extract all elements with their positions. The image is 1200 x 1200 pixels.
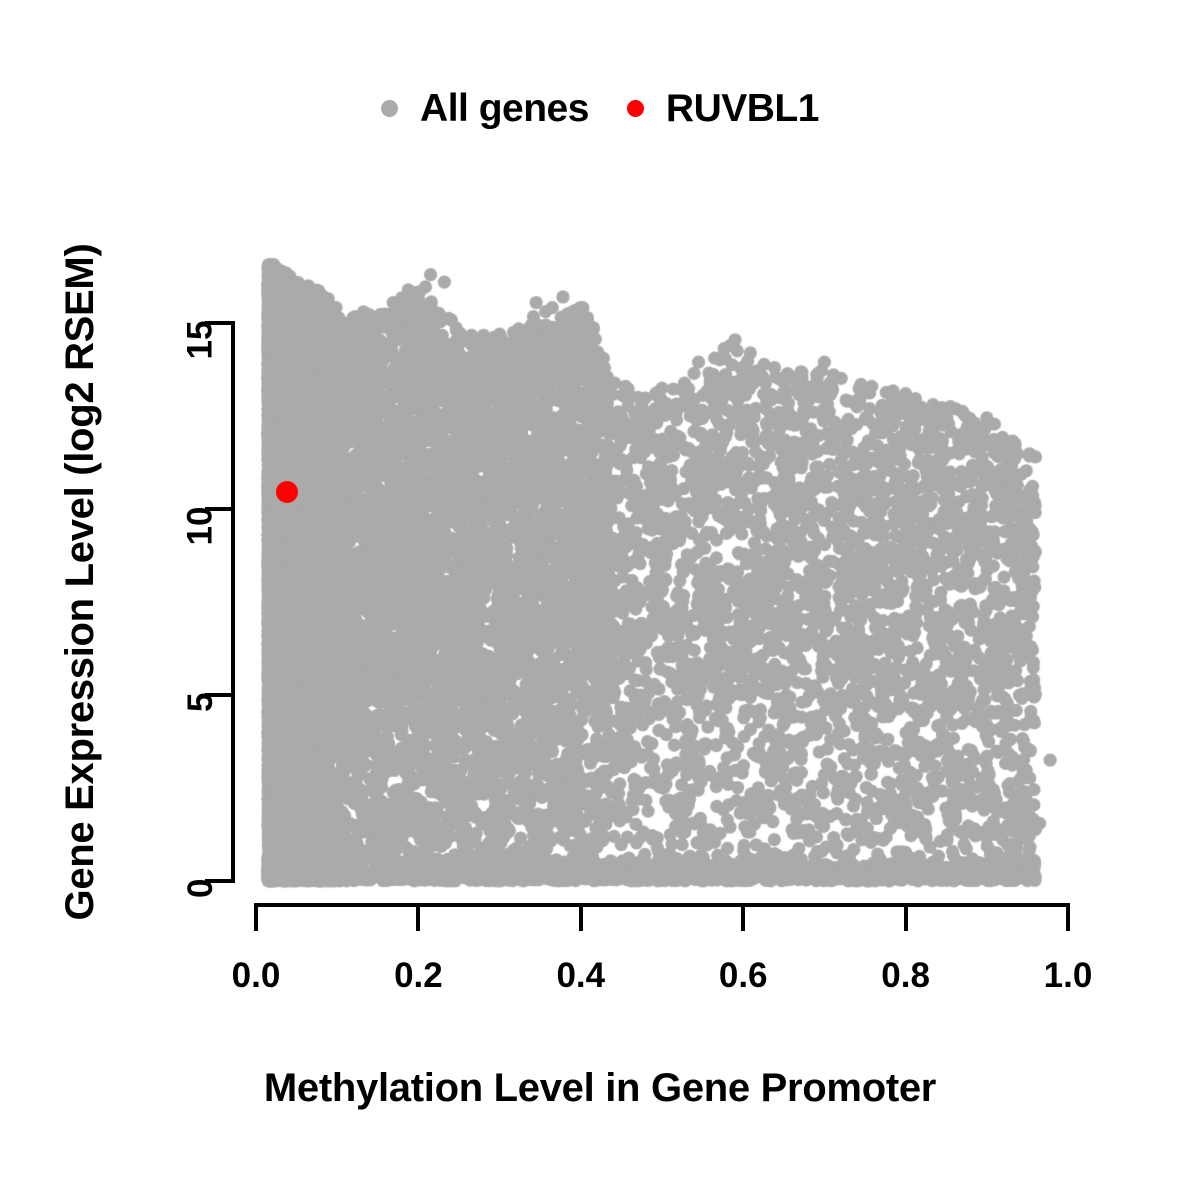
x-axis-line (254, 903, 1070, 907)
x-tick-mark (416, 903, 420, 931)
plot-panel: 051015 0.00.20.40.60.81.0 (0, 0, 1200, 1200)
y-tick-label: 0 (183, 879, 218, 898)
scatter-points-canvas (0, 0, 1200, 1200)
x-axis-title: Methylation Level in Gene Promoter (0, 1068, 1200, 1108)
y-axis-line (231, 321, 235, 883)
x-tick-mark (741, 903, 745, 931)
y-tick-label: 15 (183, 321, 218, 360)
x-tick-label: 0.0 (232, 958, 281, 993)
x-tick-label: 0.4 (556, 958, 605, 993)
x-tick-mark (904, 903, 908, 931)
x-tick-mark (579, 903, 583, 931)
x-tick-label: 0.2 (394, 958, 443, 993)
highlight-point-ruvbl1 (276, 481, 298, 503)
x-tick-label: 0.8 (881, 958, 930, 993)
x-tick-mark (254, 903, 258, 931)
scatter-plot-figure: All genes RUVBL1 051015 0.00.20.40.60.81… (0, 0, 1200, 1200)
y-axis-title: Gene Expression Level (log2 RSEM) (60, 162, 100, 1002)
y-tick-label: 5 (183, 693, 218, 712)
x-tick-label: 1.0 (1044, 958, 1093, 993)
x-tick-mark (1066, 903, 1070, 931)
x-tick-label: 0.6 (719, 958, 768, 993)
y-tick-label: 10 (183, 507, 218, 546)
